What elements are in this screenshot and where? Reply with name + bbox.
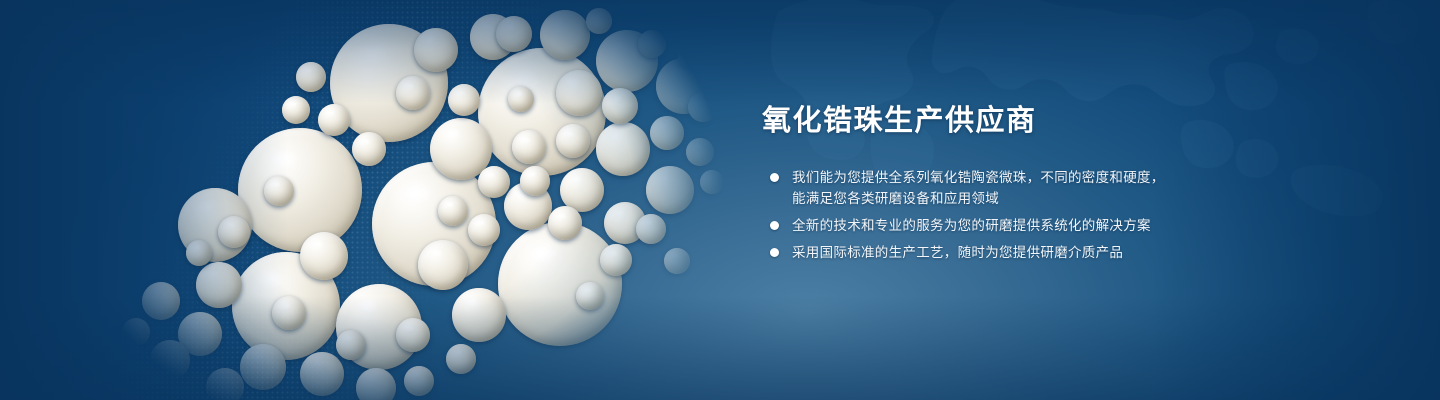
- bullet-line: 全新的技术和专业的服务为您的研磨提供系统化的解决方案: [792, 215, 1232, 236]
- bullet-line: 能满足您各类研磨设备和应用领域: [792, 188, 1232, 209]
- bullet-line: 我们能为您提供全系列氧化锆陶瓷微珠，不同的密度和硬度，: [792, 167, 1232, 188]
- hero-banner: 氧化锆珠生产供应商 我们能为您提供全系列氧化锆陶瓷微珠，不同的密度和硬度， 能满…: [0, 0, 1440, 400]
- list-item: 全新的技术和专业的服务为您的研磨提供系统化的解决方案: [762, 215, 1232, 236]
- list-item: 我们能为您提供全系列氧化锆陶瓷微珠，不同的密度和硬度， 能满足您各类研磨设备和应…: [762, 167, 1232, 209]
- banner-headline: 氧化锆珠生产供应商: [762, 104, 1232, 139]
- banner-bullet-list: 我们能为您提供全系列氧化锆陶瓷微珠，不同的密度和硬度， 能满足您各类研磨设备和应…: [762, 167, 1232, 263]
- bullet-line: 采用国际标准的生产工艺，随时为您提供研磨介质产品: [792, 242, 1232, 263]
- bullet-dot-icon: [770, 221, 779, 230]
- banner-content: 氧化锆珠生产供应商 我们能为您提供全系列氧化锆陶瓷微珠，不同的密度和硬度， 能满…: [762, 104, 1232, 263]
- bullet-dot-icon: [770, 173, 779, 182]
- list-item: 采用国际标准的生产工艺，随时为您提供研磨介质产品: [762, 242, 1232, 263]
- bullet-dot-icon: [770, 248, 779, 257]
